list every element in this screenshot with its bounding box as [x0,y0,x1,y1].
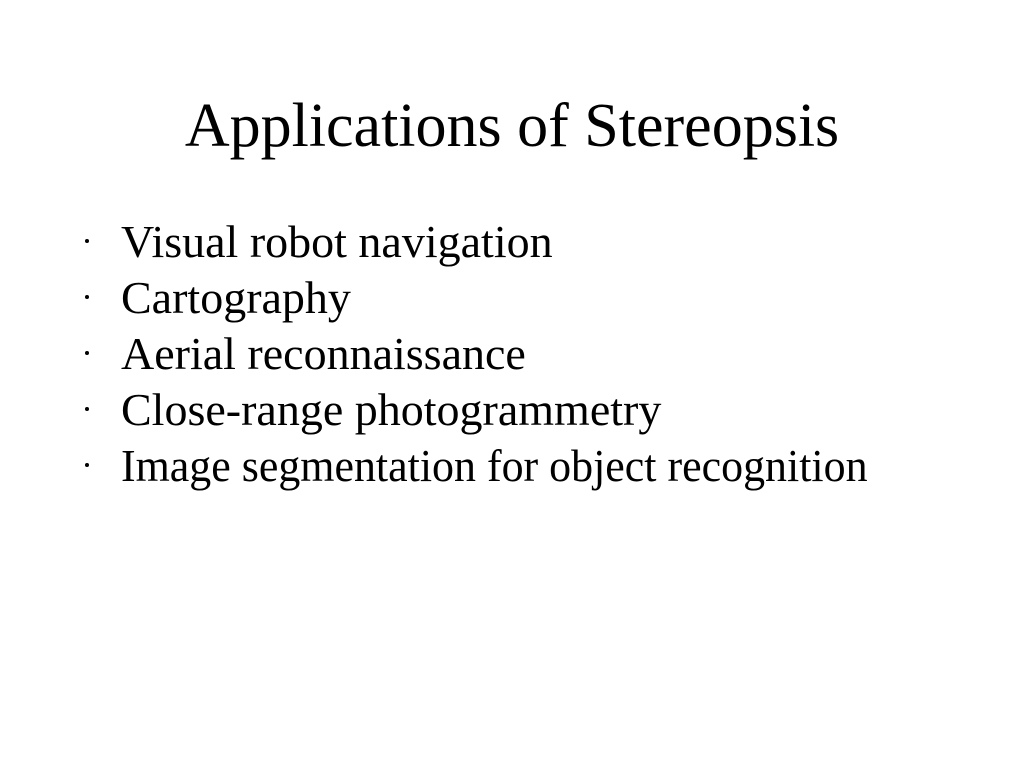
dot-bullet-icon [85,351,89,355]
list-item-label: Image segmentation for object recognitio… [121,438,939,494]
bullet-list: Visual robot navigation Cartography Aeri… [78,214,978,494]
list-item[interactable]: Aerial reconnaissance [78,326,978,382]
dot-bullet-icon [85,463,89,467]
list-item[interactable]: Visual robot navigation [78,214,978,270]
dot-bullet-icon [85,239,89,243]
list-item-label: Close-range photogrammetry [121,382,978,438]
presentation-slide: Applications of Stereopsis Visual robot … [0,0,1024,768]
dot-bullet-icon [85,295,89,299]
list-item[interactable]: Image segmentation for object recognitio… [78,438,978,494]
list-item-label: Visual robot navigation [121,214,978,270]
list-item[interactable]: Close-range photogrammetry [78,382,978,438]
list-item[interactable]: Cartography [78,270,978,326]
dot-bullet-icon [85,407,89,411]
list-item-label: Cartography [121,270,978,326]
list-item-label: Aerial reconnaissance [121,326,978,382]
page-title: Applications of Stereopsis [0,94,1024,159]
